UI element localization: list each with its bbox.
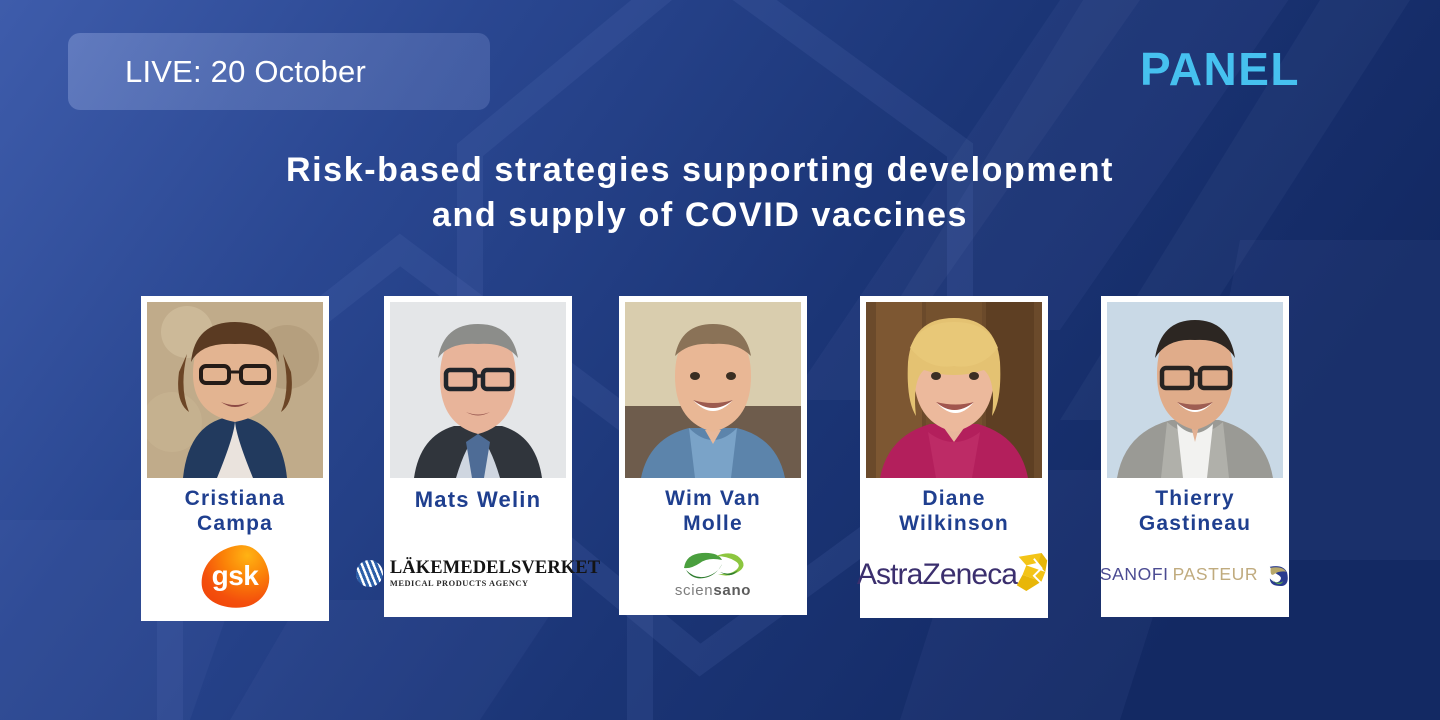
speaker-name-line-2: Molle [683,512,743,535]
sciensano-word-suffix: sano [713,582,751,599]
speaker-name-cristiana-campa: Cristiana Campa [183,487,288,536]
gsk-logo-icon: gsk [201,546,269,608]
speaker-name-diane-wilkinson: Diane Wilkinson [897,487,1011,536]
speaker-name-line-2: Campa [197,512,273,535]
sciensano-wordmark: sciensano [675,582,751,599]
session-title-line-1: Risk-based strategies supporting develop… [0,148,1400,193]
panel-label: PANEL [1000,42,1440,96]
gsk-logo-text: gsk [201,546,269,608]
speaker-name-line-1: Diane [922,487,985,510]
lakemedelsverket-subtitle: MEDICAL PRODUCTS AGENCY [390,580,600,589]
speaker-name-line-2: Gastineau [1139,512,1251,535]
sanofi-swirl-icon [1265,562,1290,587]
lakemedelsverket-name: LÄKEMEDELSVERKET [390,559,600,578]
speaker-card-wim-van-molle[interactable]: Wim Van Molle sciensano [619,296,807,615]
speaker-photo-wim-van-molle [625,302,801,478]
speaker-org-logo-sanofi-pasteur: SANOFI PASTEUR [1101,544,1289,604]
speaker-photo-mats-welin [390,302,566,478]
astrazeneca-logo-icon: AstraZeneca [857,558,1051,593]
speaker-name-mats-welin: Mats Welin [413,487,544,513]
speaker-org-logo-astrazeneca: AstraZeneca [860,542,1048,608]
speaker-org-logo-lakemedelsverket: LÄKEMEDELSVERKET MEDICAL PRODUCTS AGENCY [384,544,572,604]
live-date-label: LIVE: 20 October [68,54,366,90]
live-date-badge: LIVE: 20 October [68,33,490,110]
lakemedelsverket-mark-icon [356,560,383,587]
sanofi-wordmark: SANOFI [1100,564,1169,585]
astrazeneca-ribbon-icon [1013,551,1051,593]
sciensano-logo-icon: sciensano [675,548,751,599]
speaker-card-diane-wilkinson[interactable]: Diane Wilkinson AstraZeneca [860,296,1048,618]
speaker-card-mats-welin[interactable]: Mats Welin LÄKEMEDELSVERKET MEDICAL PROD… [384,296,572,617]
speaker-photo-diane-wilkinson [866,302,1042,478]
lakemedelsverket-logo-icon: LÄKEMEDELSVERKET MEDICAL PRODUCTS AGENCY [356,559,600,588]
sciensano-word-prefix: scien [675,582,714,599]
session-title: Risk-based strategies supporting develop… [0,148,1400,238]
pasteur-wordmark: PASTEUR [1173,564,1259,585]
sciensano-leaf-icon [676,548,750,581]
astrazeneca-wordmark: AstraZeneca [857,558,1017,592]
speaker-name-line-1: Thierry [1155,487,1235,510]
speaker-name-line-1: Cristiana [185,487,286,510]
session-title-line-2: and supply of COVID vaccines [0,193,1400,238]
speaker-org-logo-sciensano: sciensano [619,540,807,606]
panel-announcement-slide: LIVE: 20 October PANEL Risk-based strate… [0,0,1440,720]
speaker-card-thierry-gastineau[interactable]: Thierry Gastineau SANOFI PASTEUR [1101,296,1289,617]
speaker-photo-cristiana-campa [147,302,323,478]
speaker-card-list: Cristiana Campa gsk [141,296,1301,621]
speaker-name-line-2: Wilkinson [899,512,1009,535]
sanofi-pasteur-logo-icon: SANOFI PASTEUR [1100,562,1290,587]
speaker-card-cristiana-campa[interactable]: Cristiana Campa gsk [141,296,329,621]
speaker-name-thierry-gastineau: Thierry Gastineau [1137,487,1253,536]
speaker-photo-thierry-gastineau [1107,302,1283,478]
speaker-name-wim-van-molle: Wim Van Molle [663,487,763,536]
speaker-name-line-1: Wim Van [665,487,761,510]
speaker-name-line-1: Mats Welin [415,487,542,512]
speaker-org-logo-gsk: gsk [141,542,329,612]
